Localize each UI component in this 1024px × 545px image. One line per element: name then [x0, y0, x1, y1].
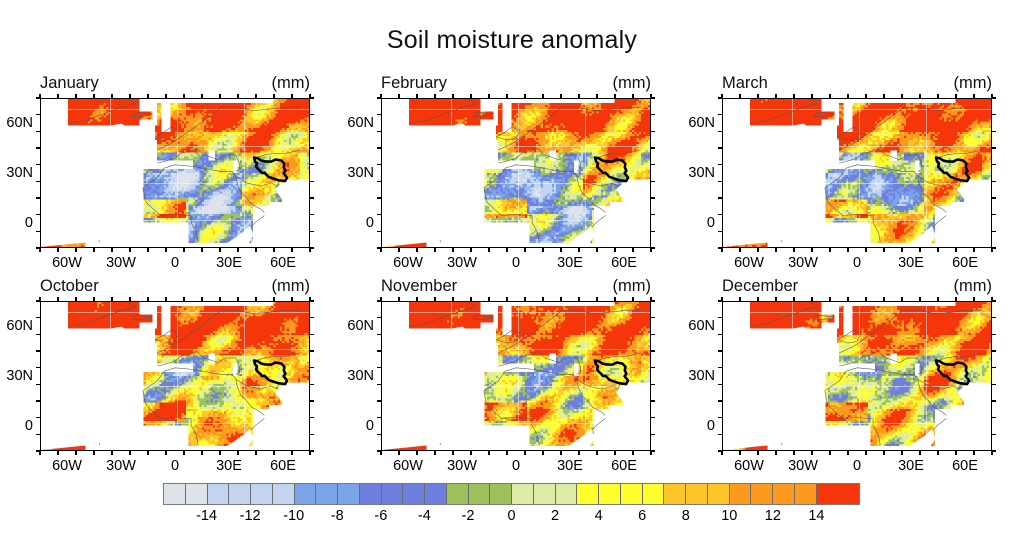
x-tick-minor-top	[578, 94, 579, 98]
x-tick-minor	[219, 248, 220, 252]
x-tick-minor-top	[75, 297, 76, 301]
y-tick-minor	[377, 317, 381, 318]
panel-month-label: November	[381, 277, 457, 296]
map-frame	[722, 98, 992, 248]
x-tick-minor	[560, 451, 561, 455]
x-tick-minor	[632, 248, 633, 252]
x-tick-minor-top	[398, 94, 399, 98]
colorbar-cell	[599, 484, 621, 504]
x-tick-minor-top	[560, 297, 561, 301]
x-tick-minor-top	[255, 94, 256, 98]
x-tick-minor-top	[919, 94, 920, 98]
y-tick-minor	[377, 214, 381, 215]
y-tick-minor-right	[992, 350, 996, 351]
x-tick-minor	[129, 451, 130, 455]
x-tick-minor-top	[937, 94, 938, 98]
map-frame	[381, 98, 651, 248]
map-raster	[723, 302, 991, 450]
y-tick-minor	[377, 384, 381, 385]
y-tick-minor-right	[651, 214, 655, 215]
y-tick-minor-right	[651, 197, 655, 198]
x-tick-minor-top	[183, 297, 184, 301]
x-tick-minor	[973, 451, 974, 455]
x-tick-minor-top	[542, 297, 543, 301]
y-tick-minor-right	[651, 317, 655, 318]
y-tick-minor-right	[310, 300, 314, 301]
x-tick-minor	[147, 248, 148, 252]
x-tick-minor	[757, 248, 758, 252]
y-tick-minor	[36, 300, 40, 301]
y-tick-minor-right	[992, 164, 996, 165]
x-tick-minor	[775, 248, 776, 252]
x-tick-minor-top	[237, 94, 238, 98]
y-tick-minor	[36, 214, 40, 215]
y-tick-minor	[377, 197, 381, 198]
x-tick-minor-top	[93, 297, 94, 301]
y-tick-minor-right	[992, 400, 996, 401]
colorbar-cell	[403, 484, 425, 504]
y-tick-minor-right	[651, 300, 655, 301]
y-tick-minor	[718, 147, 722, 148]
x-tick-minor	[201, 451, 202, 455]
x-tick-minor-top	[434, 94, 435, 98]
y-tick-minor	[718, 181, 722, 182]
x-tick-minor-top	[811, 94, 812, 98]
y-tick-minor	[36, 434, 40, 435]
colorbar-cell	[295, 484, 317, 504]
y-tick-minor-right	[651, 97, 655, 98]
x-tick-minor-top	[865, 297, 866, 301]
colorbar-tick-label: 4	[595, 508, 603, 524]
map-raster	[41, 99, 309, 247]
x-axis-label: 30W	[788, 255, 818, 271]
y-tick-minor-right	[651, 334, 655, 335]
y-tick-minor	[718, 384, 722, 385]
x-tick-minor	[75, 248, 76, 252]
y-tick-minor-right	[651, 131, 655, 132]
y-tick-minor	[718, 434, 722, 435]
colorbar-gradient	[163, 483, 860, 505]
y-tick-minor	[377, 434, 381, 435]
map-raster	[723, 99, 991, 247]
x-axis-label: 60W	[52, 255, 82, 271]
colorbar-tick-label: -10	[283, 508, 304, 524]
y-tick-minor	[36, 417, 40, 418]
x-tick-minor-top	[883, 297, 884, 301]
y-tick-minor	[36, 384, 40, 385]
panel-february: February(mm)60W30W030E60E030N60N	[381, 98, 651, 248]
y-tick-minor	[718, 214, 722, 215]
colorbar-cell	[664, 484, 686, 504]
colorbar-tick-label: -8	[331, 508, 344, 524]
colorbar-cell	[795, 484, 817, 504]
x-tick-minor-top	[452, 94, 453, 98]
x-tick-minor-top	[757, 94, 758, 98]
colorbar-cell	[469, 484, 491, 504]
x-tick-minor-top	[183, 94, 184, 98]
colorbar-cell	[316, 484, 338, 504]
x-tick-minor	[147, 451, 148, 455]
y-tick-minor	[718, 417, 722, 418]
x-axis-label: 30W	[447, 255, 477, 271]
y-tick-minor	[718, 400, 722, 401]
x-tick-minor-top	[614, 94, 615, 98]
x-tick-minor	[901, 451, 902, 455]
y-tick-minor	[36, 131, 40, 132]
y-tick-minor-right	[992, 317, 996, 318]
y-tick-minor	[377, 300, 381, 301]
x-tick-minor	[273, 248, 274, 252]
panel-january: January(mm)60W30W030E60E030N60N	[40, 98, 310, 248]
colorbar-tick-label: 2	[551, 508, 559, 524]
colorbar-cell	[251, 484, 273, 504]
y-tick-minor	[377, 400, 381, 401]
y-tick-minor	[377, 247, 381, 248]
y-axis-label: 0	[707, 215, 715, 231]
y-axis-label: 30N	[6, 165, 33, 181]
y-tick-minor-right	[310, 334, 314, 335]
y-tick-minor-right	[651, 231, 655, 232]
figure-canvas: Soil moisture anomaly January(mm)60W30W0…	[0, 0, 1024, 545]
x-tick-minor-top	[524, 94, 525, 98]
panel-november: November(mm)60W30W030E60E030N60N	[381, 301, 651, 451]
x-tick-minor	[129, 248, 130, 252]
y-tick-minor-right	[310, 164, 314, 165]
panel-march: March(mm)60W30W030E60E030N60N	[722, 98, 992, 248]
y-tick-minor-right	[310, 384, 314, 385]
x-tick-minor	[165, 248, 166, 252]
y-tick-minor-right	[992, 434, 996, 435]
panel-units-label: (mm)	[613, 277, 651, 296]
y-tick-minor	[36, 350, 40, 351]
x-tick-minor	[901, 248, 902, 252]
y-tick-minor-right	[310, 231, 314, 232]
x-axis-label: 30W	[106, 255, 136, 271]
x-tick-minor	[434, 451, 435, 455]
x-tick-minor-top	[506, 297, 507, 301]
x-tick-minor	[273, 451, 274, 455]
x-tick-minor-top	[739, 94, 740, 98]
x-tick-minor	[578, 248, 579, 252]
x-axis-label: 30W	[788, 458, 818, 474]
y-tick-minor	[718, 334, 722, 335]
y-tick-minor	[718, 350, 722, 351]
y-tick-minor	[36, 317, 40, 318]
colorbar-cell	[338, 484, 360, 504]
x-tick-minor	[452, 248, 453, 252]
x-tick-minor-top	[793, 94, 794, 98]
panel-month-label: February	[381, 74, 447, 93]
x-axis-label: 30E	[216, 458, 242, 474]
y-tick-minor-right	[310, 434, 314, 435]
x-tick-minor	[811, 248, 812, 252]
x-tick-minor	[739, 248, 740, 252]
colorbar-tick-label: -14	[196, 508, 217, 524]
y-tick-minor	[36, 97, 40, 98]
y-axis-label: 0	[25, 418, 33, 434]
map-raster	[41, 302, 309, 450]
y-tick-minor	[718, 247, 722, 248]
x-tick-minor-top	[237, 297, 238, 301]
x-tick-minor-top	[255, 297, 256, 301]
y-axis-label: 30N	[347, 165, 374, 181]
x-tick-minor-top	[901, 297, 902, 301]
y-tick-minor-right	[310, 214, 314, 215]
y-axis-label: 60N	[347, 318, 374, 334]
x-tick-minor-top	[596, 297, 597, 301]
colorbar-cell	[621, 484, 643, 504]
y-tick-minor-right	[651, 367, 655, 368]
x-tick-minor	[488, 451, 489, 455]
figure-title: Soil moisture anomaly	[0, 26, 1024, 55]
x-tick-minor-top	[596, 94, 597, 98]
y-tick-minor-right	[310, 131, 314, 132]
colorbar-cell	[643, 484, 665, 504]
y-axis-label: 0	[366, 418, 374, 434]
x-tick-minor	[829, 451, 830, 455]
x-tick-minor-top	[901, 94, 902, 98]
y-tick-minor-right	[992, 147, 996, 148]
x-tick-minor	[560, 248, 561, 252]
x-tick-minor-top	[291, 297, 292, 301]
x-tick-minor-top	[111, 297, 112, 301]
x-axis-label: 60E	[952, 458, 978, 474]
panel-month-label: January	[40, 74, 99, 93]
colorbar-cell	[360, 484, 382, 504]
colorbar-cell	[708, 484, 730, 504]
y-tick-minor	[377, 181, 381, 182]
colorbar-cell	[164, 484, 186, 504]
x-tick-minor-top	[219, 297, 220, 301]
x-axis-label: 60W	[52, 458, 82, 474]
map-raster	[382, 99, 650, 247]
colorbar-cell	[447, 484, 469, 504]
x-tick-minor-top	[129, 94, 130, 98]
colorbar-cell	[512, 484, 534, 504]
x-tick-minor-top	[847, 297, 848, 301]
x-tick-minor-top	[488, 297, 489, 301]
panel-december: December(mm)60W30W030E60E030N60N	[722, 301, 992, 451]
x-tick-minor-top	[524, 297, 525, 301]
y-axis-label: 60N	[688, 115, 715, 131]
colorbar-cell	[773, 484, 795, 504]
x-tick-minor	[829, 248, 830, 252]
x-tick-minor	[291, 248, 292, 252]
x-tick-minor-top	[955, 94, 956, 98]
y-tick-minor-right	[992, 450, 996, 451]
x-tick-minor-top	[847, 94, 848, 98]
y-tick-minor-right	[992, 367, 996, 368]
y-tick-minor-right	[310, 97, 314, 98]
x-tick-minor-top	[793, 297, 794, 301]
x-tick-minor	[865, 451, 866, 455]
panel-month-label: March	[722, 74, 768, 93]
x-tick-minor-top	[111, 94, 112, 98]
y-tick-minor	[718, 300, 722, 301]
x-tick-minor-top	[93, 94, 94, 98]
x-tick-minor	[237, 451, 238, 455]
y-tick-minor-right	[651, 434, 655, 435]
x-axis-label: 60W	[393, 458, 423, 474]
x-tick-minor	[542, 451, 543, 455]
y-tick-minor-right	[651, 417, 655, 418]
x-tick-minor	[398, 248, 399, 252]
x-tick-minor	[201, 248, 202, 252]
y-tick-minor	[718, 131, 722, 132]
x-tick-minor-top	[147, 94, 148, 98]
y-axis-label: 60N	[6, 115, 33, 131]
x-tick-minor-top	[273, 94, 274, 98]
colorbar-cell	[273, 484, 295, 504]
map-frame	[722, 301, 992, 451]
x-tick-minor	[165, 451, 166, 455]
x-tick-minor-top	[165, 94, 166, 98]
x-tick-minor	[883, 451, 884, 455]
x-tick-minor-top	[452, 297, 453, 301]
colorbar-cell	[556, 484, 578, 504]
y-tick-minor	[377, 114, 381, 115]
x-tick-minor	[470, 451, 471, 455]
x-axis-label: 0	[853, 255, 861, 271]
colorbar-tick-label: -4	[418, 508, 431, 524]
y-tick-minor	[377, 417, 381, 418]
x-tick-minor-top	[955, 297, 956, 301]
colorbar-tick-label: 12	[765, 508, 781, 524]
colorbar-cell	[751, 484, 773, 504]
x-tick-minor	[937, 451, 938, 455]
x-tick-minor	[614, 248, 615, 252]
x-tick-minor-top	[165, 297, 166, 301]
x-tick-minor	[93, 248, 94, 252]
y-tick-minor	[718, 114, 722, 115]
x-tick-minor	[757, 451, 758, 455]
y-tick-minor-right	[992, 197, 996, 198]
y-tick-minor-right	[310, 450, 314, 451]
y-tick-minor	[377, 334, 381, 335]
x-axis-label: 60E	[270, 255, 296, 271]
x-tick-minor	[434, 248, 435, 252]
colorbar-tick-label: 8	[682, 508, 690, 524]
x-tick-minor	[57, 451, 58, 455]
x-tick-minor-top	[219, 94, 220, 98]
x-tick-minor	[93, 451, 94, 455]
x-tick-minor-top	[416, 94, 417, 98]
x-tick-minor-top	[919, 297, 920, 301]
x-tick-minor	[111, 451, 112, 455]
y-axis-label: 60N	[347, 115, 374, 131]
y-tick-minor	[377, 131, 381, 132]
y-tick-minor	[36, 334, 40, 335]
map-raster	[382, 302, 650, 450]
colorbar-cell	[730, 484, 752, 504]
y-tick-minor	[377, 164, 381, 165]
colorbar-tick-label: -6	[374, 508, 387, 524]
x-tick-minor-top	[829, 94, 830, 98]
y-tick-minor	[36, 247, 40, 248]
x-tick-minor-top	[560, 94, 561, 98]
x-tick-minor	[524, 451, 525, 455]
x-axis-label: 0	[512, 255, 520, 271]
y-tick-minor	[718, 450, 722, 451]
x-axis-label: 60E	[952, 255, 978, 271]
y-tick-minor-right	[651, 247, 655, 248]
x-tick-minor	[398, 451, 399, 455]
y-tick-minor	[718, 317, 722, 318]
colorbar-cell	[425, 484, 447, 504]
y-tick-minor	[36, 147, 40, 148]
colorbar: -14-12-10-8-6-4-202468101214	[163, 483, 860, 505]
panel-units-label: (mm)	[272, 74, 310, 93]
x-tick-minor-top	[883, 94, 884, 98]
x-axis-label: 60W	[734, 255, 764, 271]
x-tick-minor-top	[775, 297, 776, 301]
y-tick-minor-right	[651, 147, 655, 148]
y-tick-minor-right	[992, 97, 996, 98]
x-tick-minor	[183, 451, 184, 455]
x-tick-minor	[255, 451, 256, 455]
x-tick-minor	[614, 451, 615, 455]
x-axis-label: 30W	[447, 458, 477, 474]
y-axis-label: 30N	[688, 165, 715, 181]
colorbar-tick-label: 10	[721, 508, 737, 524]
y-axis-label: 0	[25, 215, 33, 231]
y-tick-minor-right	[310, 147, 314, 148]
x-tick-minor	[506, 248, 507, 252]
map-frame	[381, 301, 651, 451]
x-tick-minor	[739, 451, 740, 455]
x-tick-minor	[416, 451, 417, 455]
y-tick-minor-right	[992, 334, 996, 335]
x-tick-minor	[237, 248, 238, 252]
y-tick-minor	[36, 181, 40, 182]
y-tick-minor-right	[992, 384, 996, 385]
y-tick-minor	[36, 367, 40, 368]
x-tick-minor	[57, 248, 58, 252]
y-tick-minor	[36, 400, 40, 401]
x-tick-minor-top	[291, 94, 292, 98]
x-tick-minor-top	[201, 94, 202, 98]
x-tick-minor	[775, 451, 776, 455]
x-tick-minor	[973, 248, 974, 252]
x-tick-minor	[596, 451, 597, 455]
x-axis-label: 60W	[734, 458, 764, 474]
y-tick-minor	[377, 367, 381, 368]
y-axis-label: 0	[707, 418, 715, 434]
colorbar-tick-label: -12	[240, 508, 261, 524]
x-tick-minor-top	[937, 297, 938, 301]
x-tick-minor-top	[829, 297, 830, 301]
map-frame	[40, 98, 310, 248]
panel-units-label: (mm)	[272, 277, 310, 296]
y-axis-label: 60N	[688, 318, 715, 334]
x-tick-minor-top	[865, 94, 866, 98]
x-tick-minor	[255, 248, 256, 252]
y-tick-minor-right	[992, 247, 996, 248]
y-tick-minor	[36, 231, 40, 232]
x-axis-label: 30E	[557, 255, 583, 271]
x-axis-label: 0	[853, 458, 861, 474]
x-axis-label: 60E	[611, 458, 637, 474]
x-tick-minor	[452, 451, 453, 455]
y-tick-minor-right	[651, 181, 655, 182]
x-axis-label: 30E	[557, 458, 583, 474]
x-tick-minor-top	[973, 94, 974, 98]
colorbar-cell	[186, 484, 208, 504]
x-tick-minor-top	[416, 297, 417, 301]
y-tick-minor-right	[310, 197, 314, 198]
x-tick-minor-top	[57, 297, 58, 301]
x-tick-minor	[542, 248, 543, 252]
